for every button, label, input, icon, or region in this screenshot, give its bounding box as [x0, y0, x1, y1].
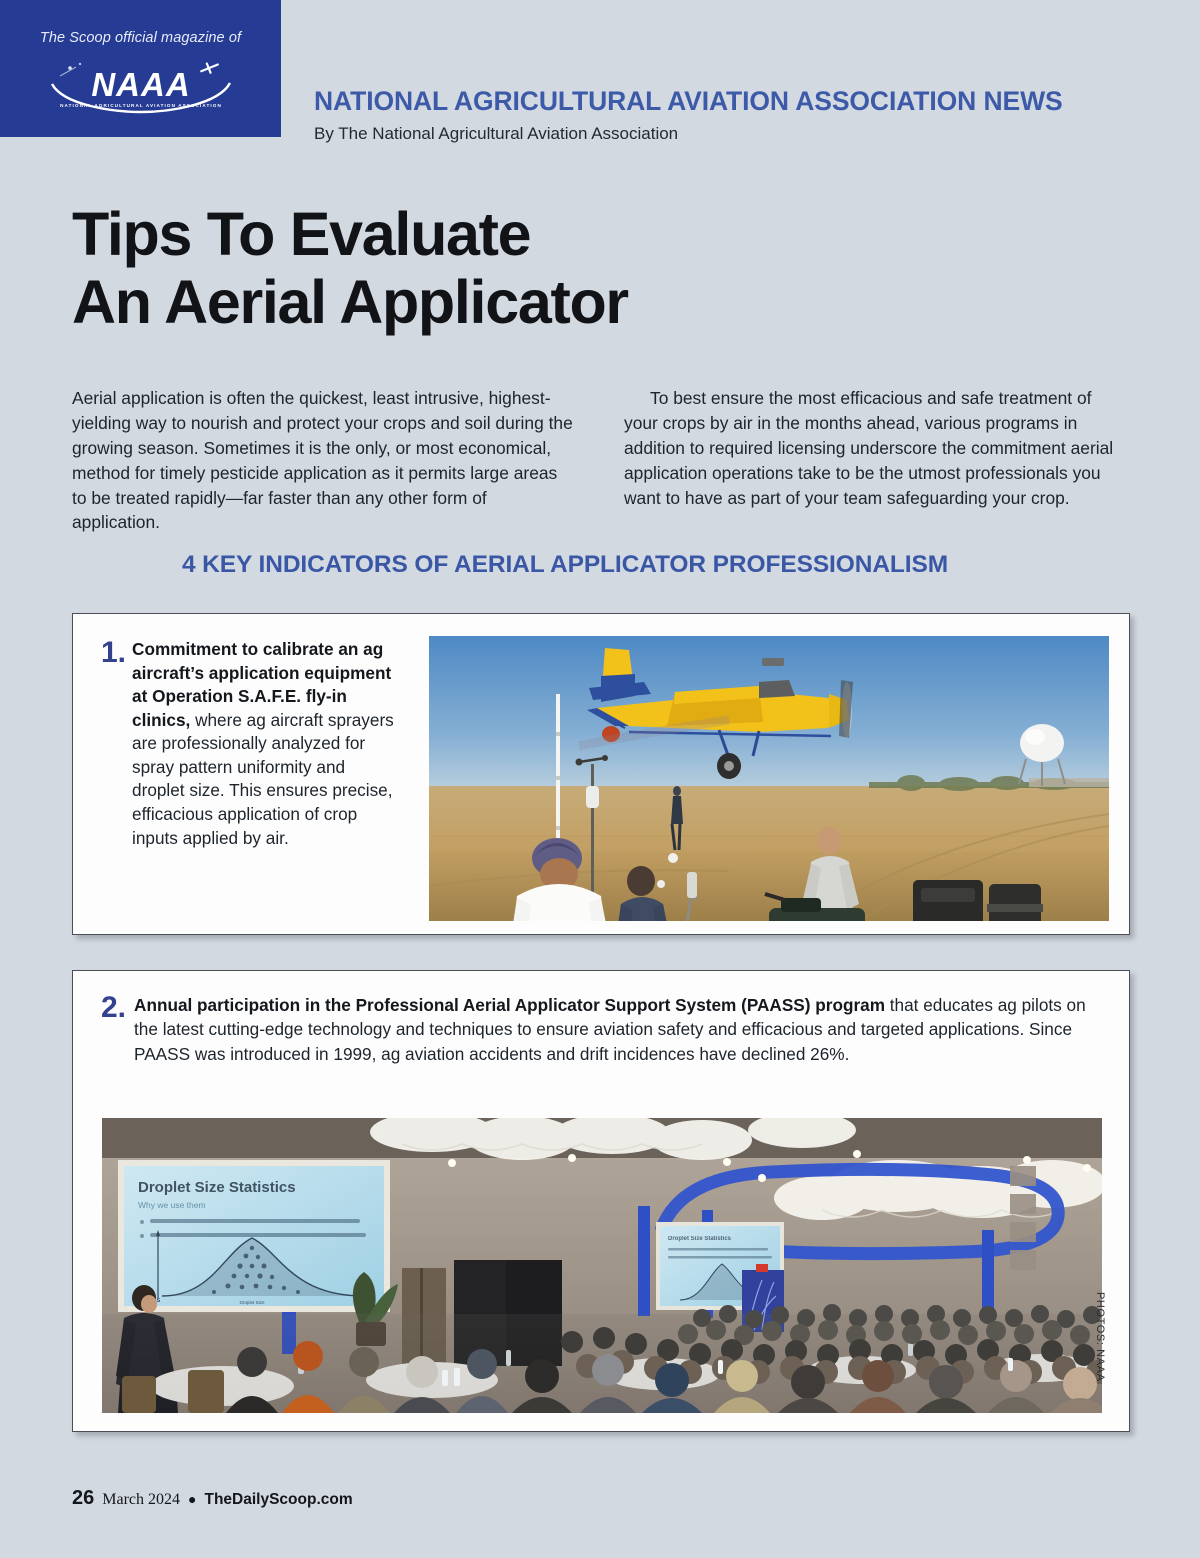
photo-credit: PHOTOS: NAAA [1094, 1292, 1106, 1382]
naaa-logo-icon: NAAA NATIONAL AGRICULTURAL AVIATION ASSO… [46, 58, 236, 114]
svg-text:NAAA: NAAA [91, 66, 190, 103]
page-footer: 26 March 2024 ● TheDailyScoop.com [72, 1487, 353, 1510]
page-title-line-2: An Aerial Applicator [72, 268, 972, 336]
indicator-text-2: Annual participation in the Professional… [134, 993, 1095, 1066]
photo-paass-convention: Droplet Size Statistics Why we use them [102, 1118, 1102, 1413]
section-heading: 4 KEY INDICATORS OF AERIAL APPLICATOR PR… [0, 551, 1200, 579]
indicator-card-2: 2. Annual participation in the Professio… [72, 970, 1130, 1432]
page-title: Tips To Evaluate An Aerial Applicator [72, 200, 972, 337]
naaa-logo-tagline: NATIONAL AGRICULTURAL AVIATION ASSOCIATI… [60, 103, 222, 108]
footer-website[interactable]: TheDailyScoop.com [204, 1491, 352, 1509]
intro-column-right: To best ensure the most efficacious and … [624, 386, 1128, 535]
indicator-lead-2: Annual participation in the Professional… [134, 995, 885, 1015]
footer-separator: ● [188, 1491, 196, 1507]
indicator-card-1: 1. Commitment to calibrate an ag aircraf… [72, 613, 1130, 935]
masthead-titles: NATIONAL AGRICULTURAL AVIATION ASSOCIATI… [314, 86, 1063, 144]
slide-title: Droplet Size Statistics [138, 1179, 296, 1196]
intro-columns: Aerial application is often the quickest… [72, 386, 1128, 535]
indicator-text-1: Commitment to calibrate an ag aircraft’s… [132, 638, 400, 850]
intro-column-left: Aerial application is often the quickest… [72, 386, 576, 535]
atv-red-with-cases [891, 880, 1061, 921]
photo-operation-safe-flyin [429, 636, 1109, 921]
footer-page-number: 26 [72, 1487, 94, 1510]
page-title-line-1: Tips To Evaluate [72, 200, 530, 268]
indicator-rest-1: where ag aircraft sprayers are professio… [132, 710, 394, 848]
svg-text:Droplet Size Statistics: Droplet Size Statistics [668, 1236, 732, 1242]
svg-text:Droplet Size: Droplet Size [239, 1300, 264, 1305]
projection-screen-main: Droplet Size Statistics Why we use them [118, 1160, 390, 1312]
masthead: The Scoop official magazine of NAAA NATI… [0, 0, 1200, 175]
indicator-number-1: 1. [101, 638, 126, 850]
masthead-byline: By The National Agricultural Aviation As… [314, 124, 1063, 144]
slide-subtitle: Why we use them [138, 1200, 206, 1210]
masthead-title: NATIONAL AGRICULTURAL AVIATION ASSOCIATI… [314, 86, 1063, 117]
naaa-logo-block: The Scoop official magazine of NAAA NATI… [0, 0, 281, 137]
footer-date: March 2024 [102, 1491, 180, 1509]
indicator-number-2: 2. [101, 993, 126, 1066]
logo-kicker: The Scoop official magazine of [0, 30, 281, 46]
